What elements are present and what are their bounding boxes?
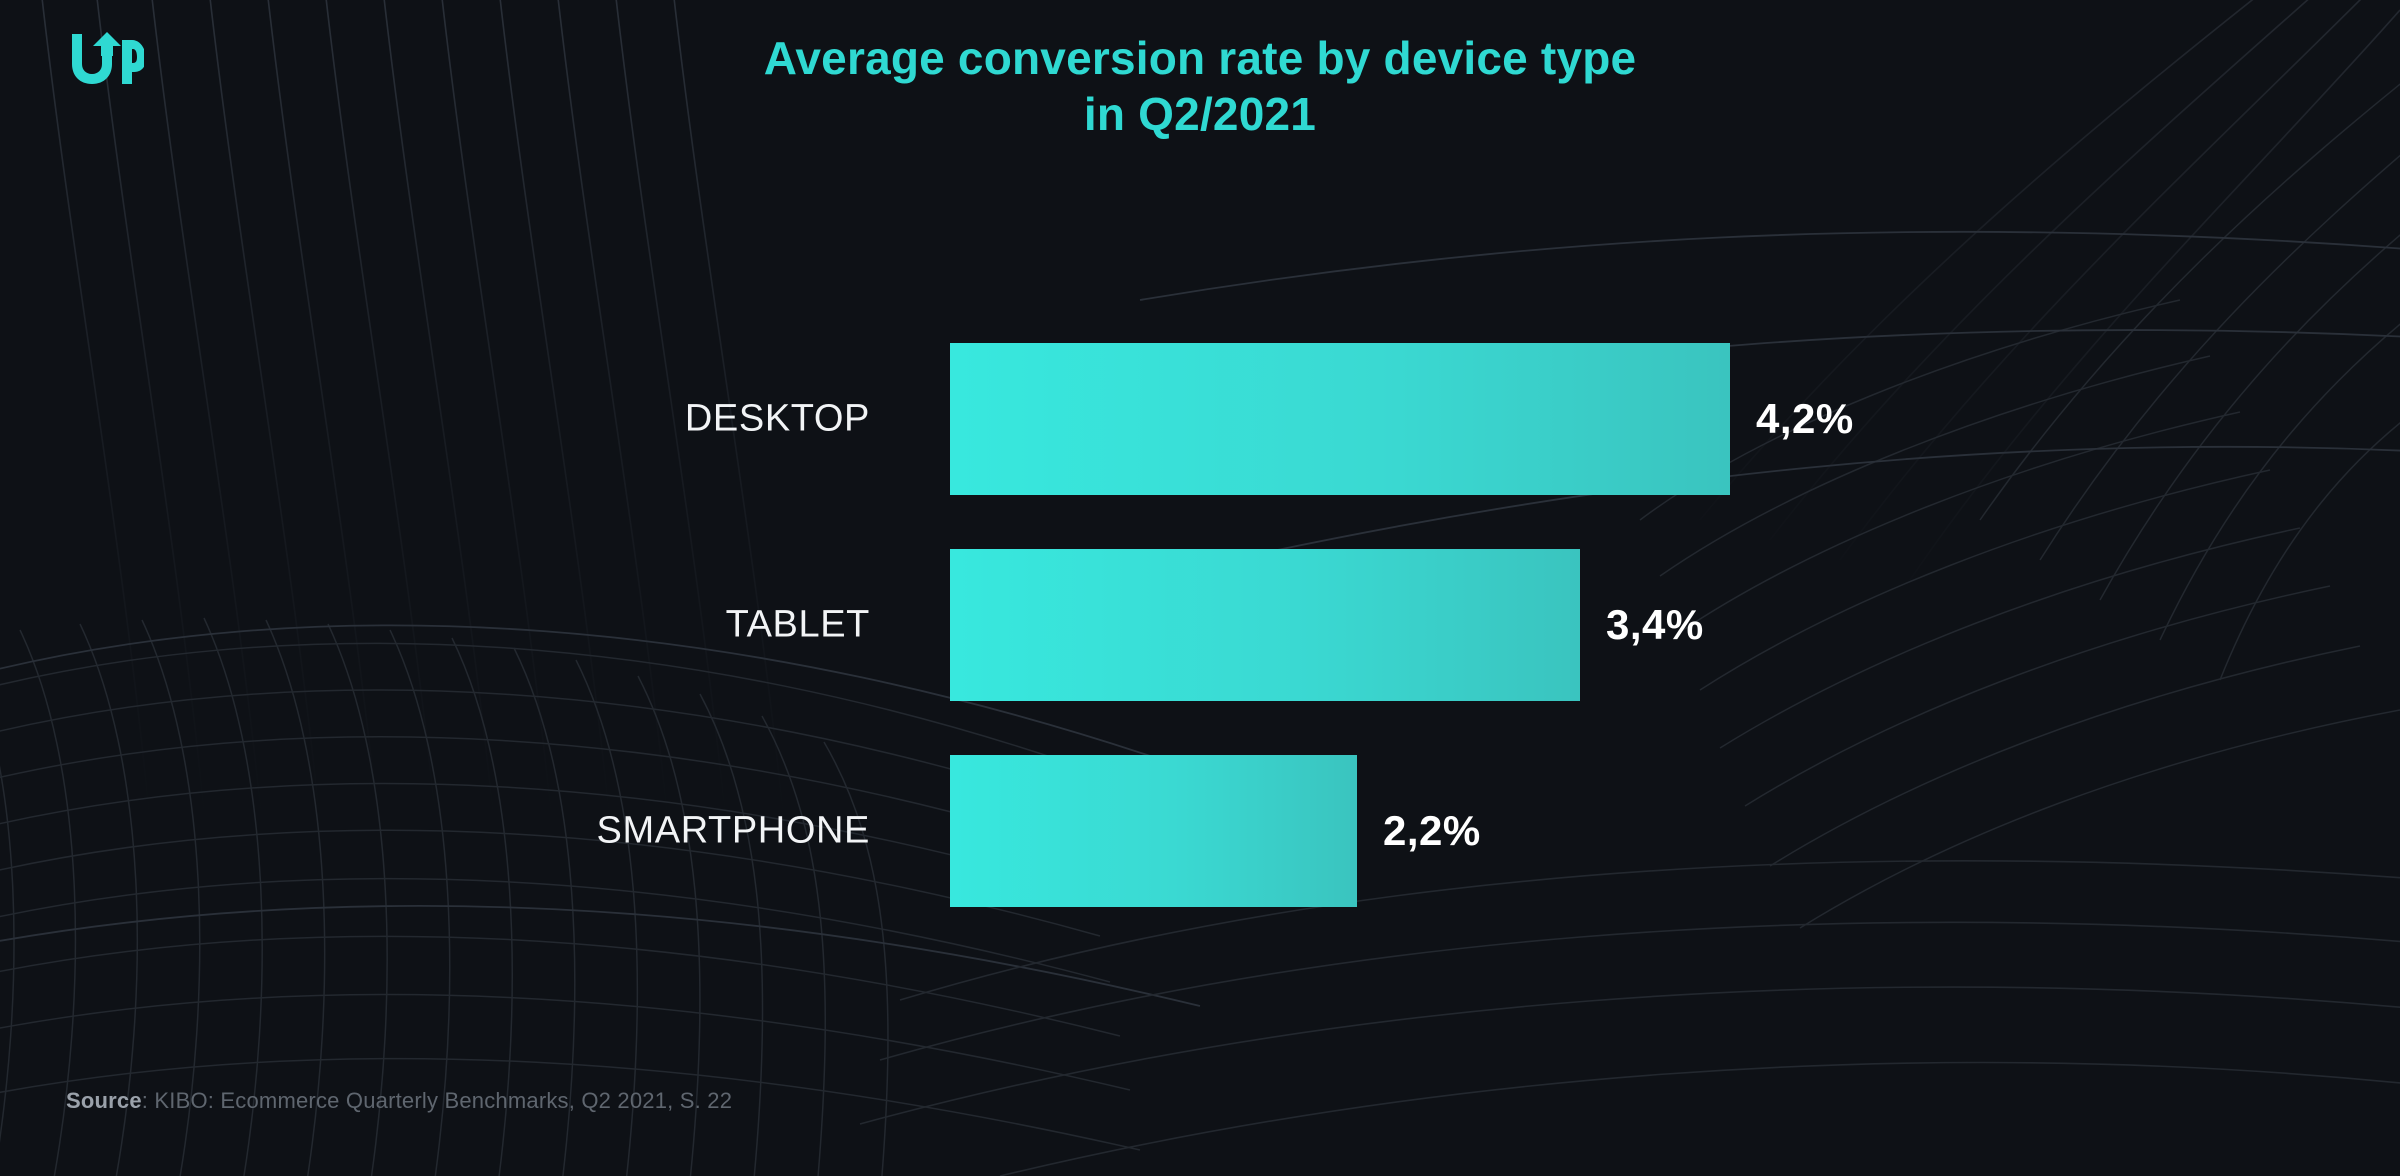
- bar-desktop[interactable]: [950, 343, 1730, 495]
- bar-chart-plot-area: DESKTOP 4,2% TABLET 3,4% SMARTPHONE 2,2%: [0, 300, 2400, 940]
- bar-smartphone[interactable]: [950, 755, 1357, 907]
- bar-value-label: 3,4%: [1606, 601, 1704, 649]
- bar-track: 2,2%: [950, 755, 1357, 907]
- chart-slide: Average conversion rate by device type i…: [0, 0, 2400, 1176]
- bar-track: 4,2%: [950, 343, 1730, 495]
- source-label: Source: [66, 1088, 142, 1113]
- bar-category-label: SMARTPHONE: [597, 810, 870, 853]
- source-footnote: Source: KIBO: Ecommerce Quarterly Benchm…: [66, 1088, 732, 1114]
- bar-tablet[interactable]: [950, 549, 1580, 701]
- bar-category-label: TABLET: [726, 604, 870, 647]
- bar-value-label: 2,2%: [1383, 807, 1481, 855]
- page-title: Average conversion rate by device type i…: [0, 30, 2400, 142]
- bar-row: SMARTPHONE 2,2%: [0, 755, 2400, 907]
- bar-category-label: DESKTOP: [685, 398, 870, 441]
- source-text: KIBO: Ecommerce Quarterly Benchmarks, Q2…: [154, 1088, 732, 1113]
- source-separator: :: [142, 1088, 155, 1113]
- bar-row: DESKTOP 4,2%: [0, 343, 2400, 495]
- bar-track: 3,4%: [950, 549, 1580, 701]
- bar-row: TABLET 3,4%: [0, 549, 2400, 701]
- bar-value-label: 4,2%: [1756, 395, 1854, 443]
